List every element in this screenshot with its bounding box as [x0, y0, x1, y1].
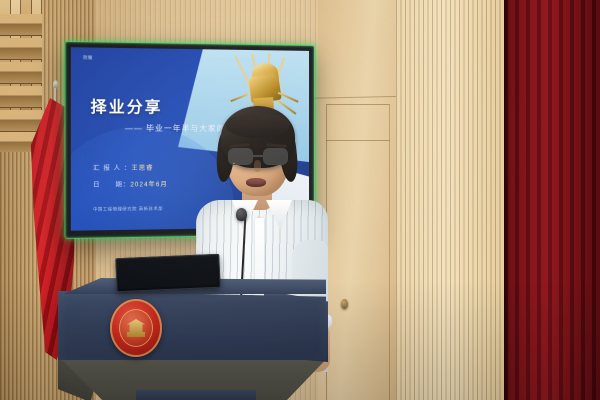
speaker-mouth — [246, 178, 266, 187]
door-frame[interactable] — [326, 104, 390, 400]
slide-organization: 中国工程物理研究院 高新技术部 — [93, 206, 163, 213]
podium-front-face — [58, 288, 326, 360]
glasses-bridge — [253, 155, 263, 157]
presenter-laptop[interactable] — [115, 254, 220, 293]
presenter-label: 汇 报 人 ： — [93, 166, 131, 172]
glasses-lens-right — [263, 148, 288, 165]
speaker-nose — [254, 160, 261, 172]
glasses-lens-left — [228, 148, 253, 165]
curtain-shadow-edge — [504, 0, 510, 400]
laptop-lid — [115, 254, 220, 293]
lectern-podium — [58, 278, 326, 400]
slide-presenter-row: 汇 报 人 ：王思睿 — [93, 162, 153, 172]
date-label: 日 期： — [93, 182, 130, 188]
podium-base — [136, 390, 256, 400]
institution-emblem — [110, 299, 162, 357]
stage-curtain — [504, 0, 600, 400]
emblem-glyph-icon — [127, 319, 145, 337]
right-slat-column — [396, 0, 504, 400]
door-handle-icon[interactable] — [341, 299, 348, 309]
door-transom-line — [326, 140, 390, 141]
speaker-fringe — [226, 114, 290, 138]
slide-date-row: 日 期：2024年6月 — [93, 179, 168, 189]
laptop-screen[interactable] — [118, 257, 217, 289]
presenter-name: 王思睿 — [131, 166, 153, 172]
microphone-icon[interactable] — [236, 208, 247, 221]
acoustic-diffuser-panel — [0, 0, 42, 152]
slide-logo: 院徽 — [83, 55, 93, 61]
slide-title: 择业分享 — [91, 95, 163, 117]
date-value: 2024年6月 — [130, 182, 168, 188]
emblem-inner-ring — [119, 309, 153, 347]
presentation-photo-scene: 院徽 择业分享 —— 毕业一年半与大家的交流 汇 报 人 ：王思睿 日 期：20… — [0, 0, 600, 400]
